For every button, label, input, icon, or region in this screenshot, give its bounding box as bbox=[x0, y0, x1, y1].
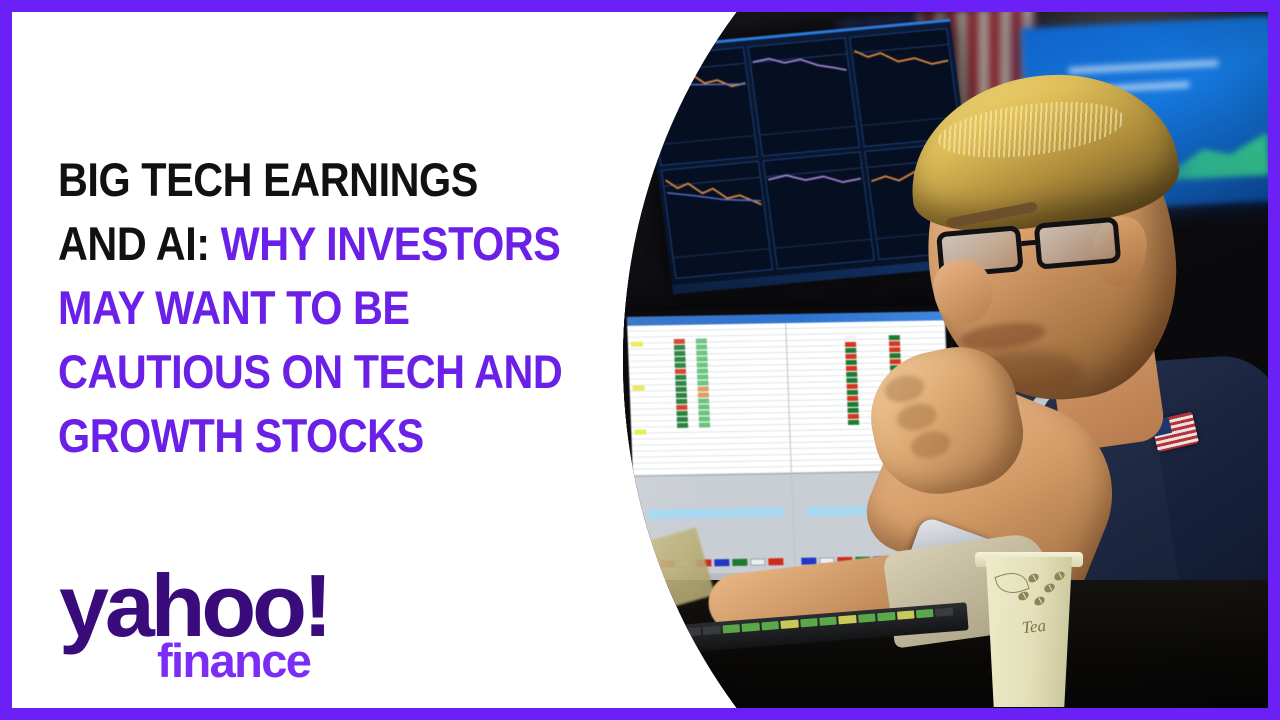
thumbnail-canvas: Tea BIG TECH EARNINGS AND AI: WHY INVEST… bbox=[12, 12, 1268, 708]
video-thumbnail: Tea BIG TECH EARNINGS AND AI: WHY INVEST… bbox=[0, 0, 1280, 720]
sparkline-icon bbox=[665, 166, 763, 220]
photo-content bbox=[588, 12, 1268, 708]
sparkline-icon bbox=[766, 156, 864, 210]
terminal-pane bbox=[627, 323, 796, 585]
lens-right bbox=[1034, 217, 1122, 270]
row-tag bbox=[634, 430, 646, 435]
order-button[interactable] bbox=[643, 560, 658, 567]
sparkline-icon bbox=[751, 43, 849, 97]
logo-finance-wordmark: finance bbox=[157, 638, 310, 684]
chart-cell bbox=[661, 160, 773, 279]
selected-row bbox=[647, 507, 783, 519]
page-title: BIG TECH EARNINGS AND AI: WHY INVESTORS … bbox=[58, 148, 564, 468]
terminal-controls bbox=[633, 473, 795, 584]
chart-cell bbox=[646, 47, 758, 166]
yahoo-finance-logo[interactable]: yahoo! finance bbox=[59, 564, 349, 694]
sparkline-icon bbox=[650, 52, 748, 106]
order-button[interactable] bbox=[733, 559, 748, 566]
order-button[interactable] bbox=[769, 558, 784, 565]
row-tag bbox=[631, 342, 643, 347]
order-button[interactable] bbox=[751, 558, 766, 565]
knuckle bbox=[882, 372, 927, 406]
trading-floor-photo bbox=[588, 12, 1268, 708]
knuckle bbox=[908, 428, 953, 462]
knuckle bbox=[894, 400, 939, 434]
order-button[interactable] bbox=[715, 559, 730, 566]
cup-script-text: Tea bbox=[1021, 616, 1047, 638]
row-tag bbox=[632, 386, 644, 391]
chart-cell bbox=[748, 37, 860, 156]
chart-cell bbox=[763, 151, 875, 270]
